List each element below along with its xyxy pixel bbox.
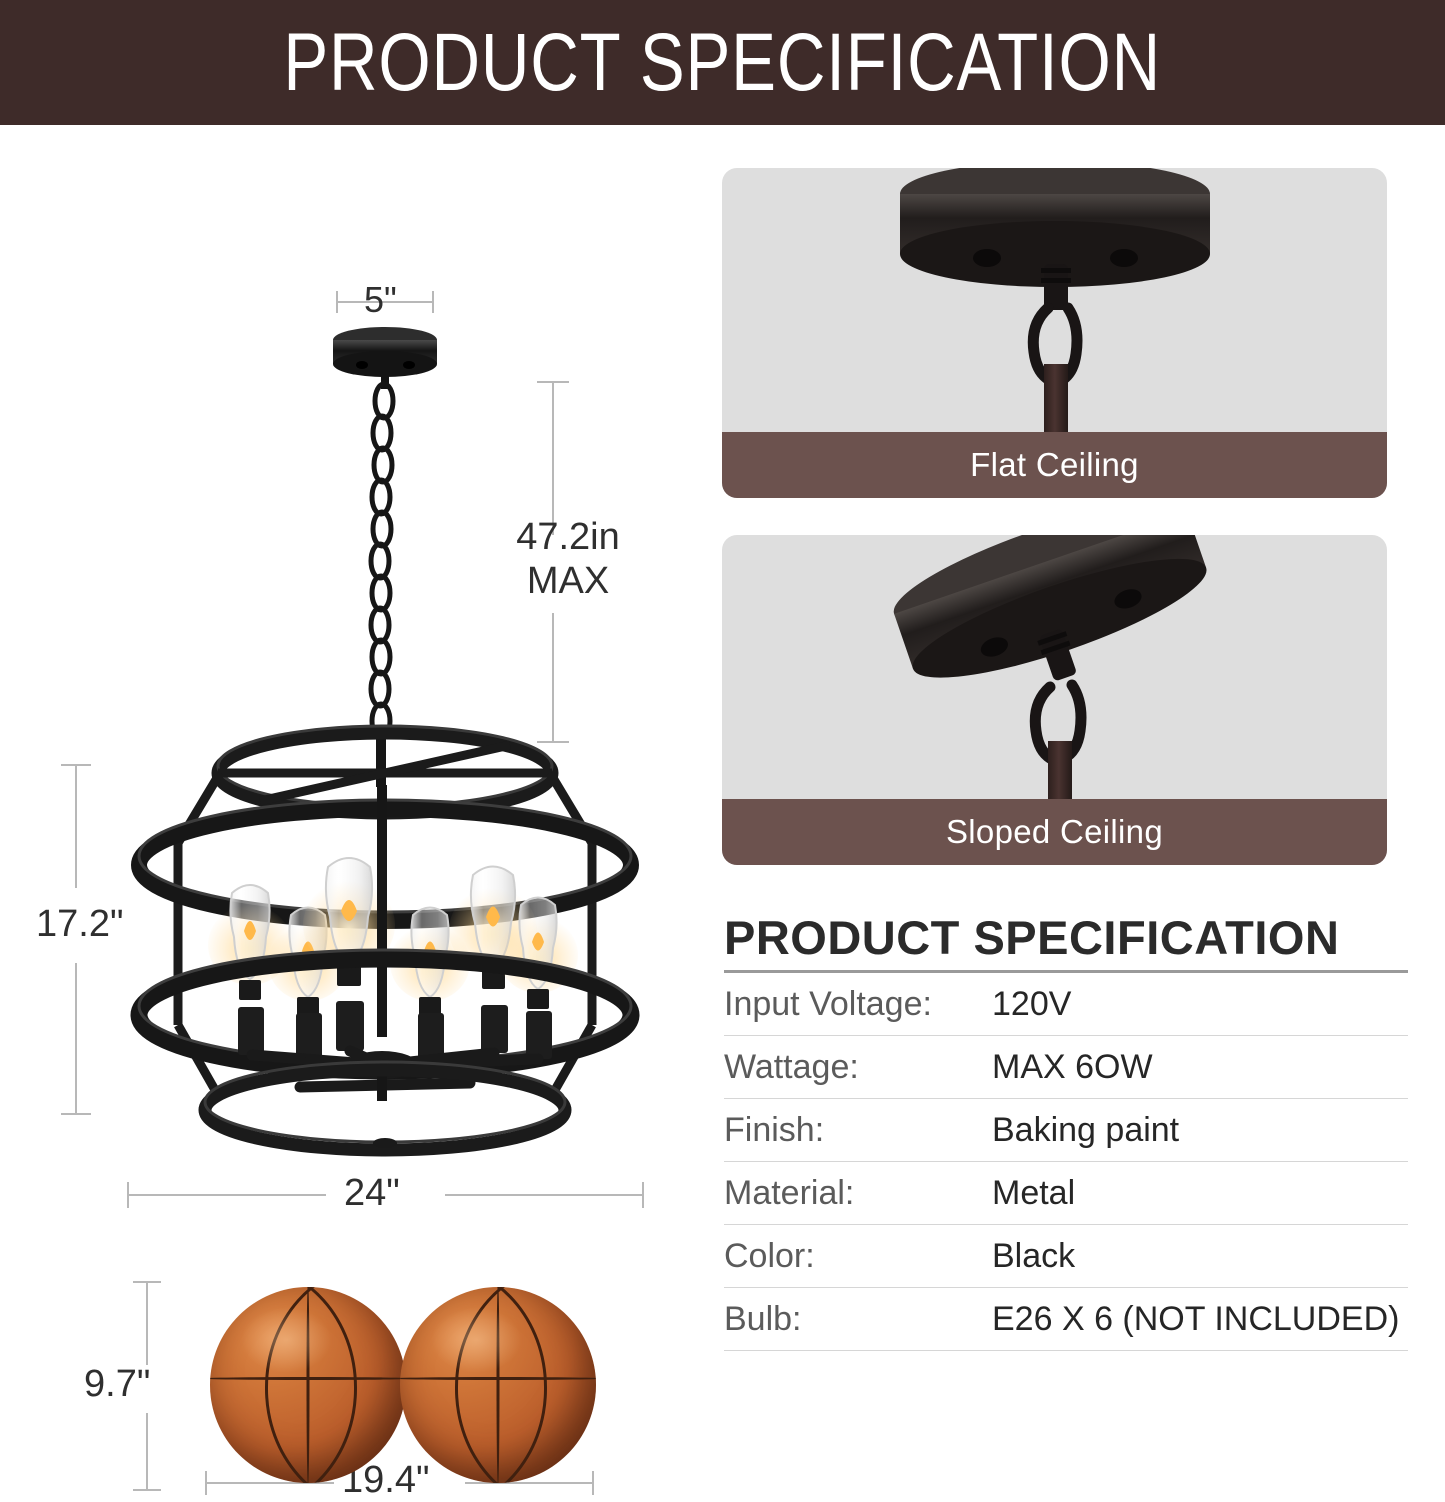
spec-label-bulb: Bulb: xyxy=(724,1300,992,1339)
dim-ball-height-line-top xyxy=(146,1283,148,1365)
table-row: Finish: Baking paint xyxy=(724,1099,1408,1162)
spec-value-bulb: E26 X 6 (NOT INCLUDED) xyxy=(992,1300,1399,1339)
spec-value-input-voltage: 120V xyxy=(992,985,1071,1024)
canopy-disk-sloped xyxy=(883,535,1216,700)
mounting-hook-flat xyxy=(1033,264,1077,434)
table-row: Color: Black xyxy=(724,1225,1408,1288)
page-header-banner: PRODUCT SPECIFICATION xyxy=(0,0,1445,125)
specification-heading: PRODUCT SPECIFICATION xyxy=(724,912,1422,964)
table-row: Input Voltage: 120V xyxy=(724,973,1408,1036)
basketball-right xyxy=(400,1287,596,1483)
mounting-hook-sloped xyxy=(1035,627,1081,805)
card-label-flat-ceiling: Flat Ceiling xyxy=(722,432,1387,498)
hanging-chain xyxy=(371,384,393,738)
spec-label-material: Material: xyxy=(724,1174,992,1213)
card-label-sloped-ceiling: Sloped Ceiling xyxy=(722,799,1387,865)
chandelier-illustration xyxy=(0,125,700,1225)
dim-ball-height-label: 9.7" xyxy=(84,1363,150,1406)
page-title: PRODUCT SPECIFICATION xyxy=(284,22,1162,104)
dim-ball-height-tick-bottom xyxy=(133,1489,161,1491)
mounting-card-flat-ceiling: Flat Ceiling xyxy=(722,168,1387,498)
center-stem-upper xyxy=(376,737,386,787)
spec-value-material: Metal xyxy=(992,1174,1075,1213)
basketball-highlight xyxy=(241,1307,331,1374)
dim-ball-height-line-bottom xyxy=(146,1413,148,1491)
product-diagram-panel: 5" 47.2in MAX 17.2" 24" 9.7" 19.4" xyxy=(0,125,700,1391)
cage-ring-bottom xyxy=(205,1062,565,1150)
spec-label-color: Color: xyxy=(724,1237,992,1276)
basketball-highlight xyxy=(431,1307,521,1374)
specification-table: PRODUCT SPECIFICATION Input Voltage: 120… xyxy=(722,912,1422,1351)
table-row: Material: Metal xyxy=(724,1162,1408,1225)
spec-value-color: Black xyxy=(992,1237,1075,1276)
spec-label-wattage: Wattage: xyxy=(724,1048,992,1087)
edison-bulbs xyxy=(208,858,578,1017)
table-row: Bulb: E26 X 6 (NOT INCLUDED) xyxy=(724,1288,1408,1351)
basketball-left xyxy=(210,1287,406,1483)
mounting-card-sloped-ceiling: Sloped Ceiling xyxy=(722,535,1387,865)
spec-label-finish: Finish: xyxy=(724,1111,992,1150)
spec-value-wattage: MAX 6OW xyxy=(992,1048,1153,1087)
spec-value-finish: Baking paint xyxy=(992,1111,1179,1150)
spec-label-input-voltage: Input Voltage: xyxy=(724,985,992,1024)
ceiling-canopy xyxy=(333,327,437,389)
center-stem-lower xyxy=(377,785,387,1037)
table-row: Wattage: MAX 6OW xyxy=(724,1036,1408,1099)
